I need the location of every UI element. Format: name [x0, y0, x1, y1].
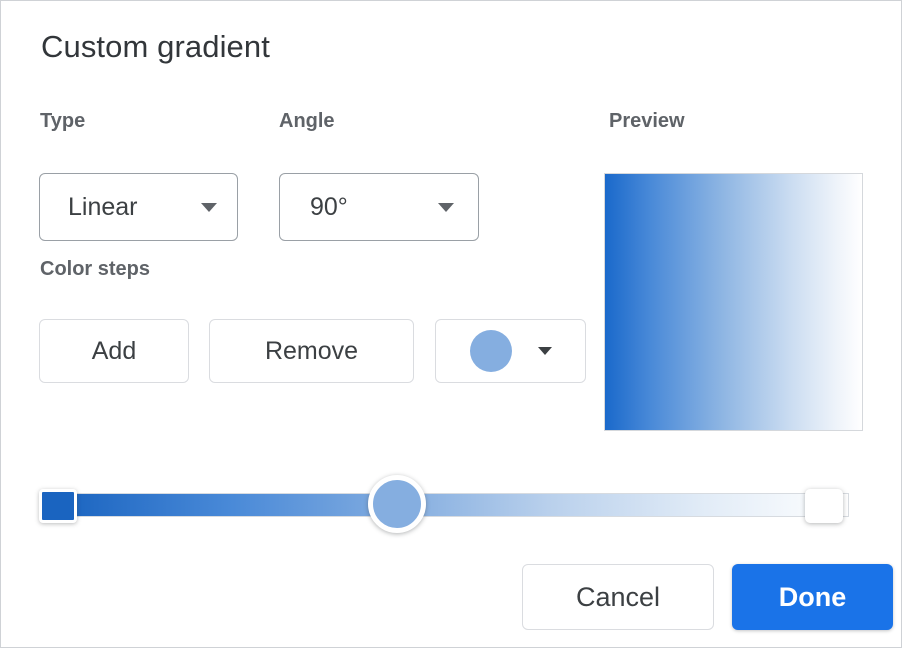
chevron-down-icon: [201, 203, 217, 212]
gradient-stop-handle-middle[interactable]: [368, 475, 426, 533]
gradient-angle-value: 90°: [310, 193, 348, 222]
remove-color-step-button[interactable]: Remove: [209, 319, 414, 383]
cancel-button[interactable]: Cancel: [522, 564, 714, 630]
gradient-type-dropdown[interactable]: Linear: [39, 173, 238, 241]
chevron-down-icon: [538, 347, 552, 355]
custom-gradient-dialog: Custom gradient Type Linear Angle 90° Pr…: [0, 0, 902, 648]
gradient-slider-track[interactable]: [59, 493, 849, 517]
chevron-down-icon: [438, 203, 454, 212]
add-color-step-button[interactable]: Add: [39, 319, 189, 383]
color-steps-label: Color steps: [40, 257, 150, 281]
angle-label: Angle: [279, 109, 335, 133]
gradient-stop-handle-end[interactable]: [805, 489, 843, 523]
color-circle-icon: [470, 330, 512, 372]
dialog-title: Custom gradient: [41, 27, 270, 67]
gradient-preview: [604, 173, 863, 431]
done-button[interactable]: Done: [732, 564, 893, 630]
gradient-stop-handle-start[interactable]: [39, 489, 77, 523]
gradient-angle-dropdown[interactable]: 90°: [279, 173, 479, 241]
gradient-type-value: Linear: [68, 193, 138, 222]
gradient-stop-slider[interactable]: [39, 471, 867, 533]
color-swatch-dropdown[interactable]: [435, 319, 586, 383]
preview-label: Preview: [609, 109, 685, 133]
type-label: Type: [40, 109, 85, 133]
